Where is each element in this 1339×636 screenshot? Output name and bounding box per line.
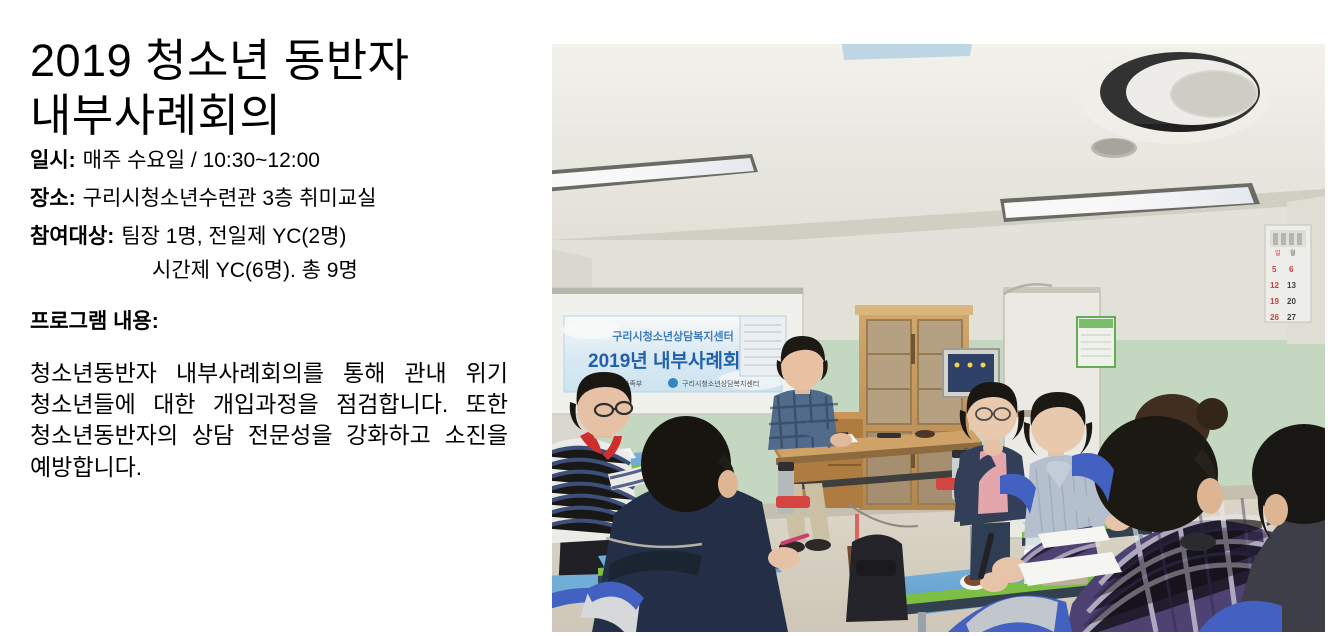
info-row-participants-continued: 시간제 YC(6명). 총 9명: [152, 260, 520, 281]
info-value-participants: 팀장 1명, 전일제 YC(2명): [121, 225, 346, 248]
info-row-date: 일시:매주 수요일 / 10:30~12:00: [30, 150, 520, 171]
info-value-location: 구리시청소년수련관 3층 취미교실: [83, 187, 377, 210]
info-row-participants: 참여대상:팀장 1명, 전일제 YC(2명): [30, 226, 520, 247]
info-row-location: 장소:구리시청소년수련관 3층 취미교실: [30, 188, 520, 209]
info-label-date: 일시:: [30, 149, 76, 172]
program-content-heading: 프로그램 내용:: [30, 305, 520, 335]
info-value-participants-continued: 시간제 YC(6명). 총 9명: [152, 259, 358, 282]
info-label-location: 장소:: [30, 187, 76, 210]
meeting-room-photo: 구리시청소년상담복지센터 2019년 내부사례회의 여성가족부 구리시청소년상담…: [552, 44, 1325, 632]
program-content-body: 청소년동반자 내부사례회의를 통해 관내 위기 청소년들에 대한 개입과정을 점…: [30, 358, 508, 514]
photo-illustration: 구리시청소년상담복지센터 2019년 내부사례회의 여성가족부 구리시청소년상담…: [552, 44, 1325, 632]
page-title: 2019 청소년 동반자 내부사례회의: [30, 34, 520, 144]
info-label-participants: 참여대상:: [30, 225, 114, 248]
info-value-date: 매주 수요일 / 10:30~12:00: [83, 149, 320, 172]
poster-text-panel: 2019 청소년 동반자 내부사례회의 일시:매주 수요일 / 10:30~12…: [30, 34, 520, 537]
